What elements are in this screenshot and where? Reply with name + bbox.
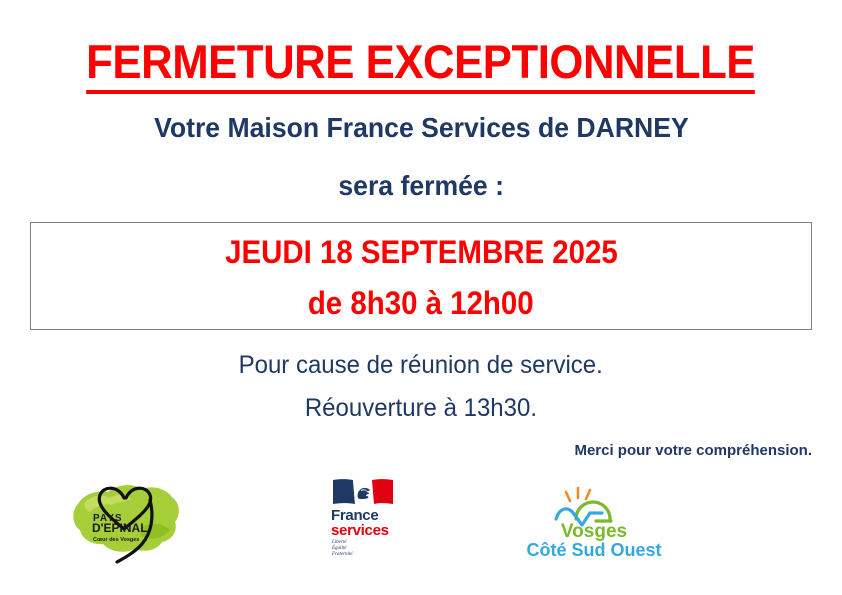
cote-sud-ouest-word: Côté Sud Ouest xyxy=(526,540,661,560)
closure-time-range-text: de 8h30 à 12h00 xyxy=(308,285,534,322)
page-title-container: FERMETURE EXCEPTIONNELLE xyxy=(0,38,842,94)
closure-notice-poster: FERMETURE EXCEPTIONNELLE Votre Maison Fr… xyxy=(0,0,842,595)
fs-word-services: services xyxy=(331,523,389,538)
french-flag-marianne-icon xyxy=(333,478,395,506)
vosges-cote-sud-ouest-logo: Vosges Côté Sud Ouest xyxy=(524,485,664,560)
epinal-text-line3: Cœur des Vosges xyxy=(93,537,139,543)
republic-motto: Liberté Égalité Fraternité xyxy=(332,540,353,558)
closure-reason: Pour cause de réunion de service. xyxy=(0,351,842,380)
subheading-service-name-text: Votre Maison France Services de DARNEY xyxy=(154,112,689,144)
epinal-text-line2: D'EPINAL xyxy=(92,521,148,535)
closure-date-box: JEUDI 18 SEPTEMBRE 2025 de 8h30 à 12h00 xyxy=(30,222,812,330)
closure-time-range: de 8h30 à 12h00 xyxy=(31,285,811,322)
closure-reason-text: Pour cause de réunion de service. xyxy=(239,351,603,380)
closure-date: JEUDI 18 SEPTEMBRE 2025 xyxy=(31,234,811,271)
reopening-time: Réouverture à 13h30. xyxy=(0,394,842,423)
france-services-logo: France services Liberté Égalité Fraterni… xyxy=(325,478,415,560)
subheading-service-name: Votre Maison France Services de DARNEY xyxy=(0,112,842,144)
subheading-closed-label: sera fermée : xyxy=(0,170,842,202)
france-services-wordmark: France services xyxy=(331,508,389,538)
motto-fraternite: Fraternité xyxy=(332,552,353,558)
closing-note: Merci pour votre compréhension. xyxy=(0,442,812,459)
sun-rays-icon xyxy=(566,488,590,501)
reopening-time-text: Réouverture à 13h30. xyxy=(305,394,537,423)
closure-date-text: JEUDI 18 SEPTEMBRE 2025 xyxy=(225,234,618,271)
pays-epinal-logo: PAYS D'EPINAL Cœur des Vosges xyxy=(62,470,192,565)
fs-word-france: France xyxy=(331,508,389,523)
vosges-word: Vosges xyxy=(561,521,627,542)
page-title: FERMETURE EXCEPTIONNELLE xyxy=(87,38,756,94)
subheading-closed-label-text: sera fermée : xyxy=(338,170,504,202)
